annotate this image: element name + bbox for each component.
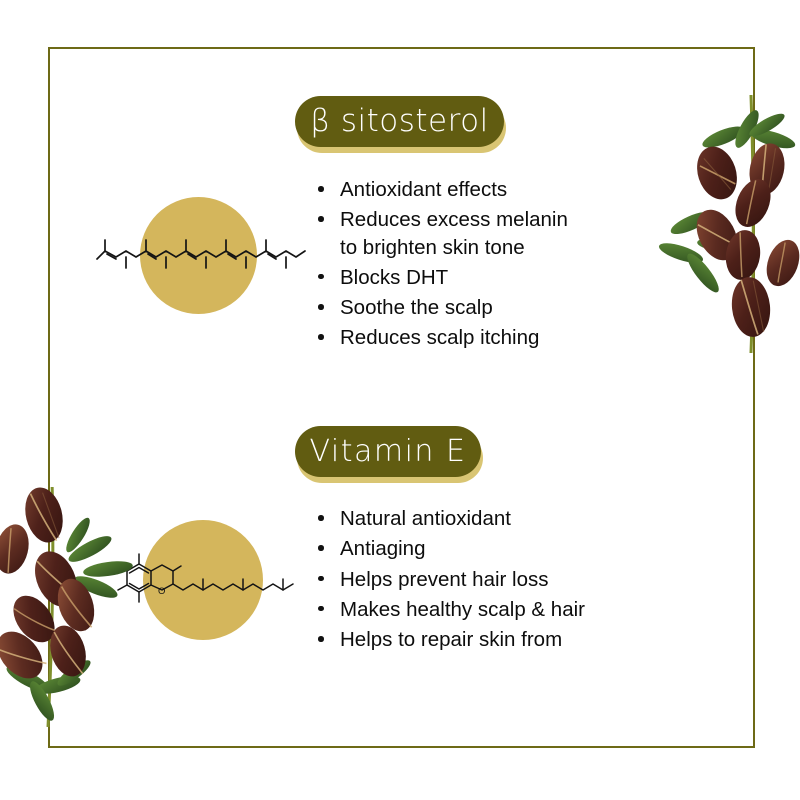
list-item: Makes healthy scalp & hair [314, 596, 664, 623]
list-item: Soothe the scalp [314, 294, 644, 321]
gold-circle-beta-sitosterol [140, 197, 257, 314]
bullet-list-beta-sitosterol: Antioxidant effects Reduces excess melan… [314, 176, 644, 355]
infographic-canvas: β sitosterol Antioxi [0, 0, 800, 800]
pill-vitamin-e: Vitamin E [295, 426, 481, 477]
list-item: Blocks DHT [314, 264, 644, 291]
list-item: Helps to repair skin from [314, 626, 664, 653]
list-item: Natural antioxidant [314, 505, 664, 532]
pill-beta-sitosterol: β sitosterol [295, 96, 504, 147]
jojoba-seeds-top-right-icon [655, 95, 800, 355]
pill-label-beta-sitosterol: β sitosterol [310, 106, 489, 137]
list-item: Reduces excess melanin to brighten skin … [314, 206, 644, 261]
list-item: Antioxidant effects [314, 176, 644, 203]
molecule-label-ho: HO [105, 561, 119, 572]
list-item: Reduces scalp itching [314, 324, 644, 351]
bullet-list-vitamin-e: Natural antioxidant Antiaging Helps prev… [314, 505, 664, 656]
jojoba-seeds-bottom-left-icon [0, 487, 167, 727]
list-item: Antiaging [314, 535, 664, 562]
gold-circle-vitamin-e [143, 520, 263, 640]
pill-label-vitamin-e: Vitamin E [310, 437, 467, 467]
section-heading-beta-sitosterol: β sitosterol [295, 96, 504, 147]
section-heading-vitamin-e: Vitamin E [295, 426, 481, 477]
list-item: Helps prevent hair loss [314, 566, 664, 593]
